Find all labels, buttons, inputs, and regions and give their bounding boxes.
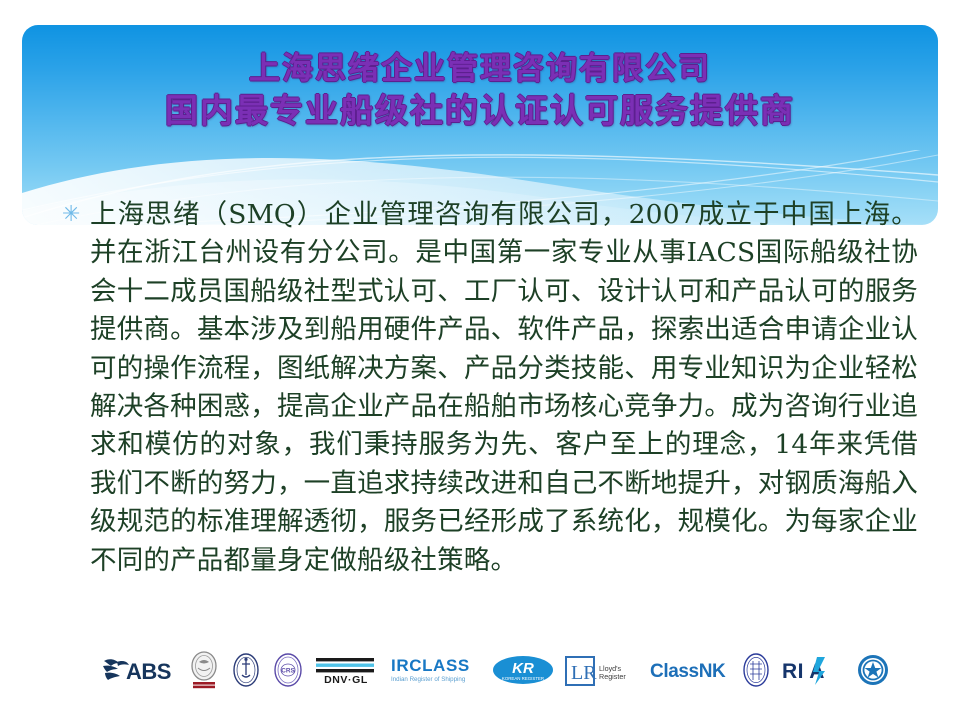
nk-seal-icon — [740, 651, 772, 689]
body-content: ✳ 上海思绪（SMQ）企业管理咨询有限公司，2007成立于中国上海。并在浙江台州… — [62, 196, 918, 580]
dnvgl-wordmark: DNV·GL — [324, 674, 368, 686]
logo-rs — [856, 648, 890, 692]
bullet-asterisk-icon: ✳ — [62, 196, 90, 234]
rs-icon — [856, 652, 890, 688]
logo-dnvgl: DNV·GL — [314, 648, 378, 692]
kr-icon: KR KOREAN REGISTER — [492, 653, 554, 687]
kr-sublabel: KOREAN REGISTER — [502, 676, 544, 681]
irclass-icon: IRCLASS Indian Register of Shipping — [387, 653, 483, 687]
rina-icon: RI A — [781, 653, 847, 687]
classnk-wordmark: ClassNK — [650, 661, 726, 682]
bv-icon — [187, 650, 221, 690]
logo-ccs — [230, 648, 262, 692]
logo-rina: RI A — [781, 648, 847, 692]
crs-icon: CRS — [271, 651, 305, 689]
ccs-icon — [230, 651, 262, 689]
abs-icon: ABS — [100, 653, 178, 687]
logo-crs: CRS — [271, 648, 305, 692]
header-panel — [22, 25, 938, 225]
logo-kr: KR KOREAN REGISTER — [492, 648, 554, 692]
logo-classnk: ClassNK — [649, 648, 731, 692]
logo-irclass: IRCLASS Indian Register of Shipping — [387, 648, 483, 692]
dnvgl-icon: DNV·GL — [314, 653, 378, 687]
abs-wordmark: ABS — [126, 659, 171, 684]
kr-wordmark: KR — [513, 660, 535, 677]
lr-wordmark-line2: Register — [599, 672, 626, 681]
logo-abs: ABS — [100, 648, 178, 692]
logo-strip: ABS — [100, 648, 890, 692]
irclass-sublabel: Indian Register of Shipping — [391, 676, 466, 683]
logo-lr: LR Lloyd's Register — [564, 648, 640, 692]
logo-bv — [187, 648, 221, 692]
slide-canvas: 上海思绪企业管理咨询有限公司 国内最专业船级社的认证认可服务提供商 ✳ 上海思绪… — [0, 0, 960, 720]
header-decoration — [22, 25, 938, 225]
irclass-wordmark: IRCLASS — [391, 656, 470, 675]
crs-wordmark: CRS — [281, 668, 295, 675]
body-paragraph: 上海思绪（SMQ）企业管理咨询有限公司，2007成立于中国上海。并在浙江台州设有… — [90, 196, 918, 580]
lr-icon: LR Lloyd's Register — [564, 652, 640, 688]
logo-nk-seal — [740, 648, 772, 692]
classnk-icon: ClassNK — [649, 654, 731, 686]
lr-monogram: LR — [571, 662, 597, 684]
